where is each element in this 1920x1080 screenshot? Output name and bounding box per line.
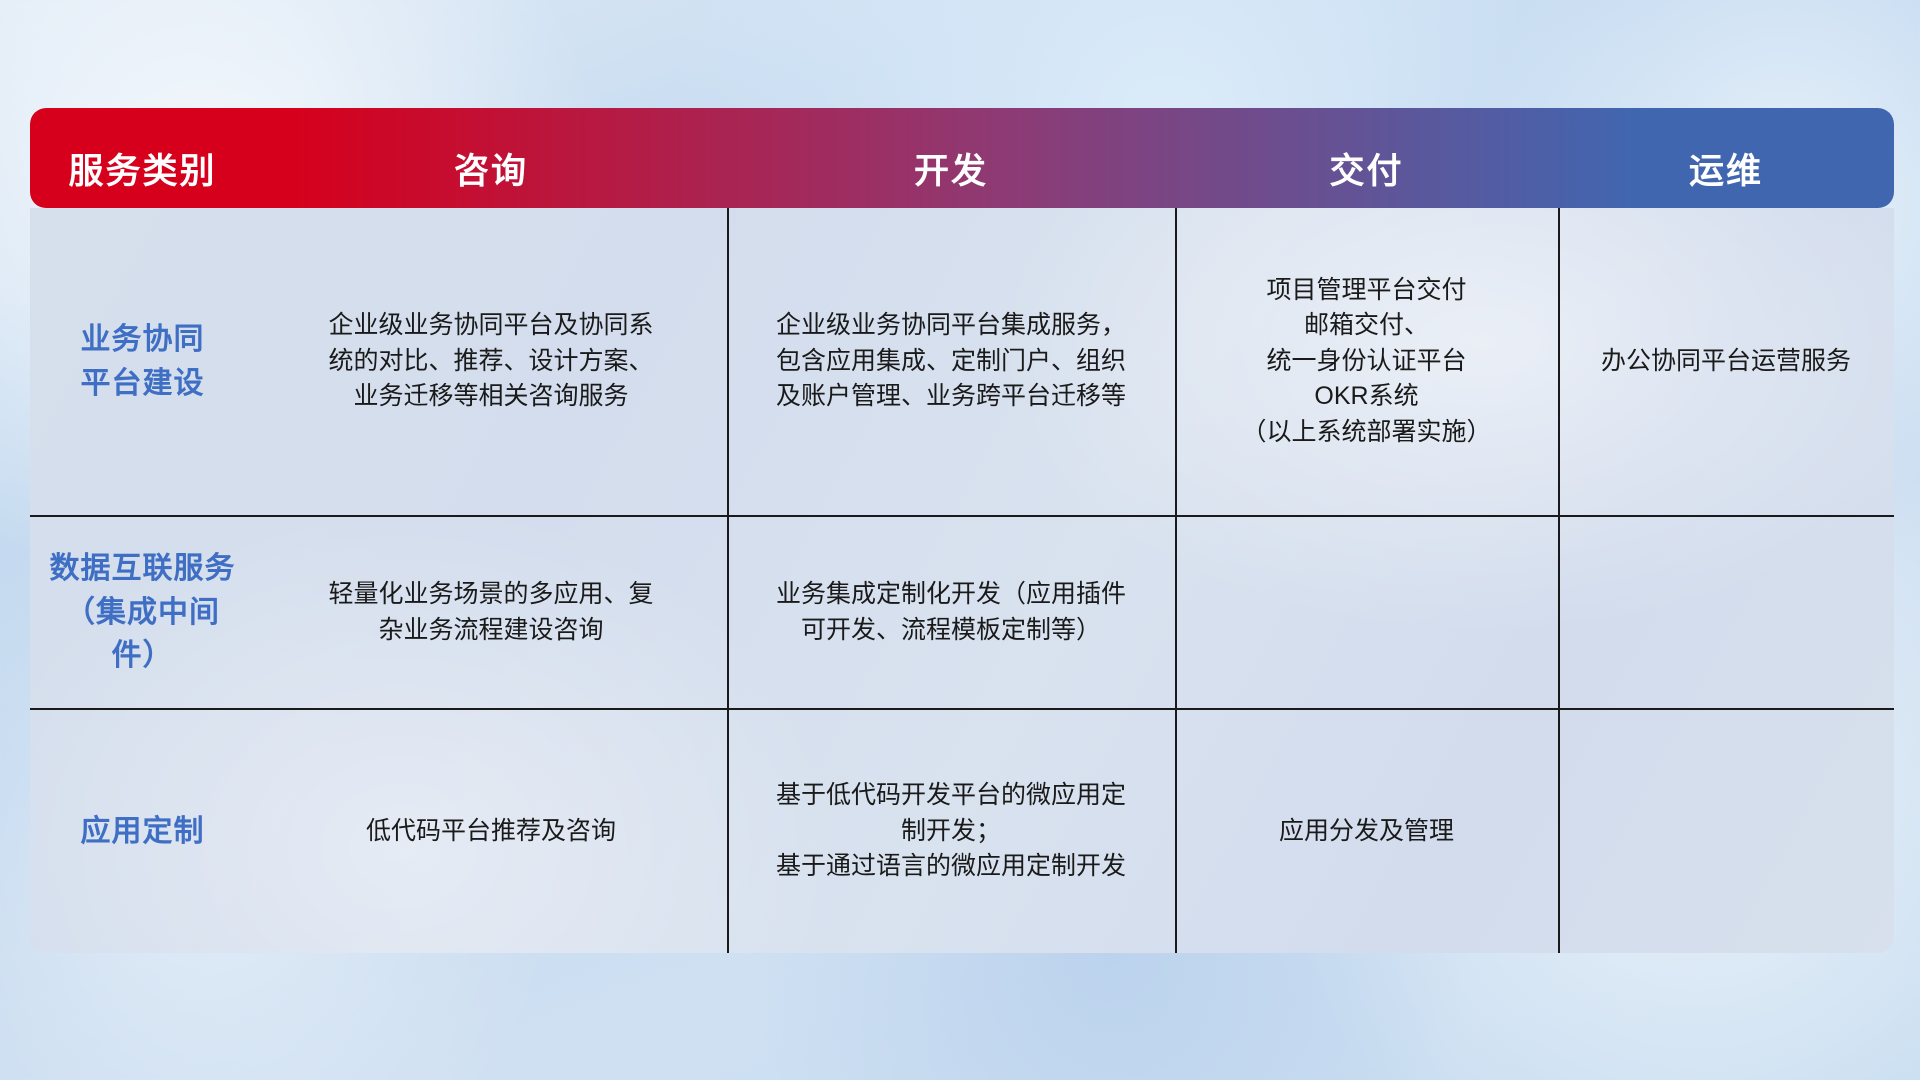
table-header-row: 服务类别 咨询 开发 交付 运维 [30, 108, 1894, 208]
cell-development: 业务集成定制化开发（应用插件 可开发、流程模板定制等） [727, 517, 1175, 708]
cell-consulting: 低代码平台推荐及咨询 [255, 710, 727, 953]
table-row: 业务协同 平台建设 企业级业务协同平台及协同系 统的对比、推荐、设计方案、 业务… [30, 208, 1894, 515]
table-row: 应用定制 低代码平台推荐及咨询 基于低代码开发平台的微应用定 制开发； 基于通过… [30, 708, 1894, 953]
table-body: 业务协同 平台建设 企业级业务协同平台及协同系 统的对比、推荐、设计方案、 业务… [30, 208, 1894, 953]
cell-category: 数据互联服务 （集成中间件） [30, 517, 255, 708]
header-cell-consulting: 咨询 [255, 108, 727, 208]
header-cell-delivery: 交付 [1175, 108, 1558, 208]
cell-consulting: 企业级业务协同平台及协同系 统的对比、推荐、设计方案、 业务迁移等相关咨询服务 [255, 208, 727, 515]
cell-category: 应用定制 [30, 710, 255, 953]
cell-operations [1558, 710, 1894, 953]
cell-development: 企业级业务协同平台集成服务， 包含应用集成、定制门户、组织 及账户管理、业务跨平… [727, 208, 1175, 515]
header-cell-service-category: 服务类别 [30, 108, 255, 208]
header-cell-operations: 运维 [1558, 108, 1894, 208]
cell-development: 基于低代码开发平台的微应用定 制开发； 基于通过语言的微应用定制开发 [727, 710, 1175, 953]
table-row: 数据互联服务 （集成中间件） 轻量化业务场景的多应用、复 杂业务流程建设咨询 业… [30, 515, 1894, 708]
cell-consulting: 轻量化业务场景的多应用、复 杂业务流程建设咨询 [255, 517, 727, 708]
cell-operations [1558, 517, 1894, 708]
cell-delivery: 应用分发及管理 [1175, 710, 1558, 953]
header-label: 服务类别 [68, 143, 216, 194]
header-label: 开发 [914, 143, 988, 194]
service-matrix-table: 服务类别 咨询 开发 交付 运维 业务协同 平台建设 企业级业务协同平台及协同系… [30, 108, 1894, 953]
header-label: 运维 [1689, 143, 1763, 194]
header-cell-development: 开发 [727, 108, 1175, 208]
cell-delivery: 项目管理平台交付 邮箱交付、 统一身份认证平台 OKR系统 （以上系统部署实施） [1175, 208, 1558, 515]
cell-operations: 办公协同平台运营服务 [1558, 208, 1894, 515]
cell-delivery [1175, 517, 1558, 708]
header-label: 交付 [1329, 143, 1403, 194]
cell-category: 业务协同 平台建设 [30, 208, 255, 515]
header-label: 咨询 [454, 143, 528, 194]
